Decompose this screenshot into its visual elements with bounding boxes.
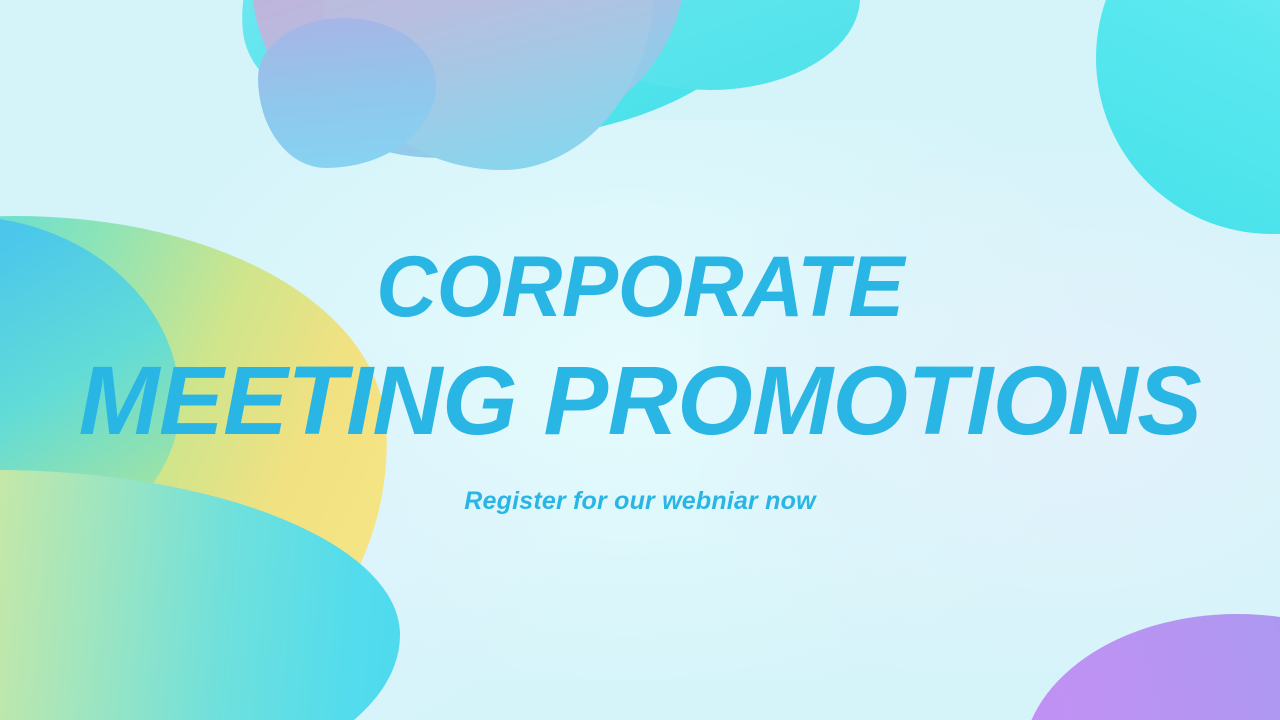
subtitle: Register for our webniar now: [0, 487, 1280, 516]
headline-group: CORPORATE MEETING PROMOTIONS Register fo…: [0, 244, 1280, 516]
promotional-banner: CORPORATE MEETING PROMOTIONS Register fo…: [0, 0, 1280, 720]
headline-line-2: MEETING PROMOTIONS: [0, 352, 1280, 449]
purple-circle-blob-bottom-right: [1022, 614, 1280, 720]
headline-line-1: CORPORATE: [13, 244, 1267, 330]
cyan-circle-blob-top-right: [1096, 0, 1280, 234]
